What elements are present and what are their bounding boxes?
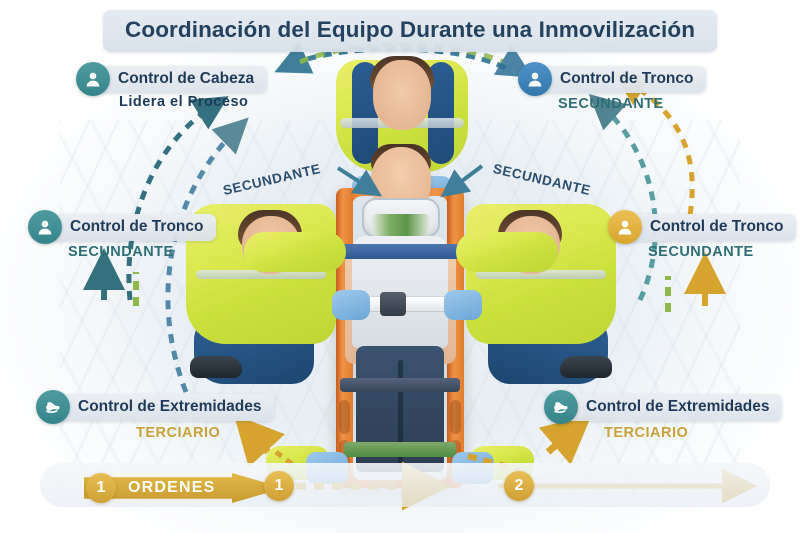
role-subtitle-trunk-left: SECUNDANTE: [68, 244, 174, 260]
person-avatar-icon: [76, 62, 110, 96]
boot-icon: [544, 390, 578, 424]
role-chip-trunk-left[interactable]: Control de Tronco: [28, 210, 216, 244]
role-chip-trunk-left-pill: Control de Tronco: [36, 214, 216, 241]
role-title: Control de Cabeza: [118, 70, 254, 88]
role-chip-limbs-right[interactable]: Control de Extremidades: [544, 390, 782, 424]
role-chip-trunk-top-right[interactable]: Control de Tronco: [518, 62, 706, 96]
stretcher-slot: [339, 400, 350, 434]
role-title: Control de Tronco: [650, 218, 783, 236]
sequence-badge-1[interactable]: 1: [86, 473, 116, 503]
role-title: Control de Extremidades: [586, 398, 769, 416]
role-title: Control de Tronco: [70, 218, 203, 236]
glove-trunk-right: [444, 290, 482, 320]
infographic-canvas: Coordinación del Equipo Durante una Inmo…: [0, 0, 800, 533]
role-chip-head-control[interactable]: Control de Cabeza: [76, 62, 267, 96]
boot-icon: [36, 390, 70, 424]
stretcher-slot: [450, 400, 461, 434]
page-title: Coordinación del Equipo Durante una Inmo…: [103, 10, 717, 52]
medic-right-shoe: [560, 356, 612, 378]
thigh-strap: [340, 378, 460, 392]
role-title: Control de Extremidades: [78, 398, 261, 416]
role-subtitle-trunk-right: SECUNDANTE: [648, 244, 754, 260]
chest-strap: [340, 244, 460, 259]
role-chip-limbs-left[interactable]: Control de Extremidades: [36, 390, 274, 424]
role-chip-trunk-top-right-pill: Control de Tronco: [526, 66, 706, 93]
medic-right-sleeve: [456, 232, 558, 272]
role-title: Control de Tronco: [560, 70, 693, 88]
medic-trunk-right: [456, 196, 616, 376]
strap-buckle: [380, 292, 406, 316]
role-subtitle-limbs-right: TERCIARIO: [604, 425, 688, 441]
role-subtitle-head-control: Lidera el Proceso: [119, 94, 248, 110]
role-chip-head-control-pill: Control de Cabeza: [84, 66, 267, 93]
role-chip-limbs-right-pill: Control de Extremidades: [552, 394, 782, 421]
page-title-text: Coordinación del Equipo Durante una Inmo…: [125, 17, 695, 42]
role-subtitle-limbs-left: TERCIARIO: [136, 425, 220, 441]
role-chip-trunk-right[interactable]: Control de Tronco: [608, 210, 796, 244]
person-avatar-icon: [518, 62, 552, 96]
role-chip-trunk-right-pill: Control de Tronco: [616, 214, 796, 241]
sequence-badge-2[interactable]: 2: [504, 471, 534, 501]
cervical-collar-pad: [372, 214, 430, 236]
medic-head-face: [373, 60, 431, 130]
sequence-orders-label: ORDENES: [128, 479, 216, 497]
person-avatar-icon: [28, 210, 62, 244]
medic-left-sleeve: [244, 232, 346, 272]
role-subtitle-trunk-top-right: SECUNDANTE: [558, 96, 664, 112]
medic-left-shoe: [190, 356, 242, 378]
role-chip-limbs-left-pill: Control de Extremidades: [44, 394, 274, 421]
glove-trunk-left: [332, 290, 370, 320]
sequence-badge-1b[interactable]: 1: [264, 471, 294, 501]
person-avatar-icon: [608, 210, 642, 244]
